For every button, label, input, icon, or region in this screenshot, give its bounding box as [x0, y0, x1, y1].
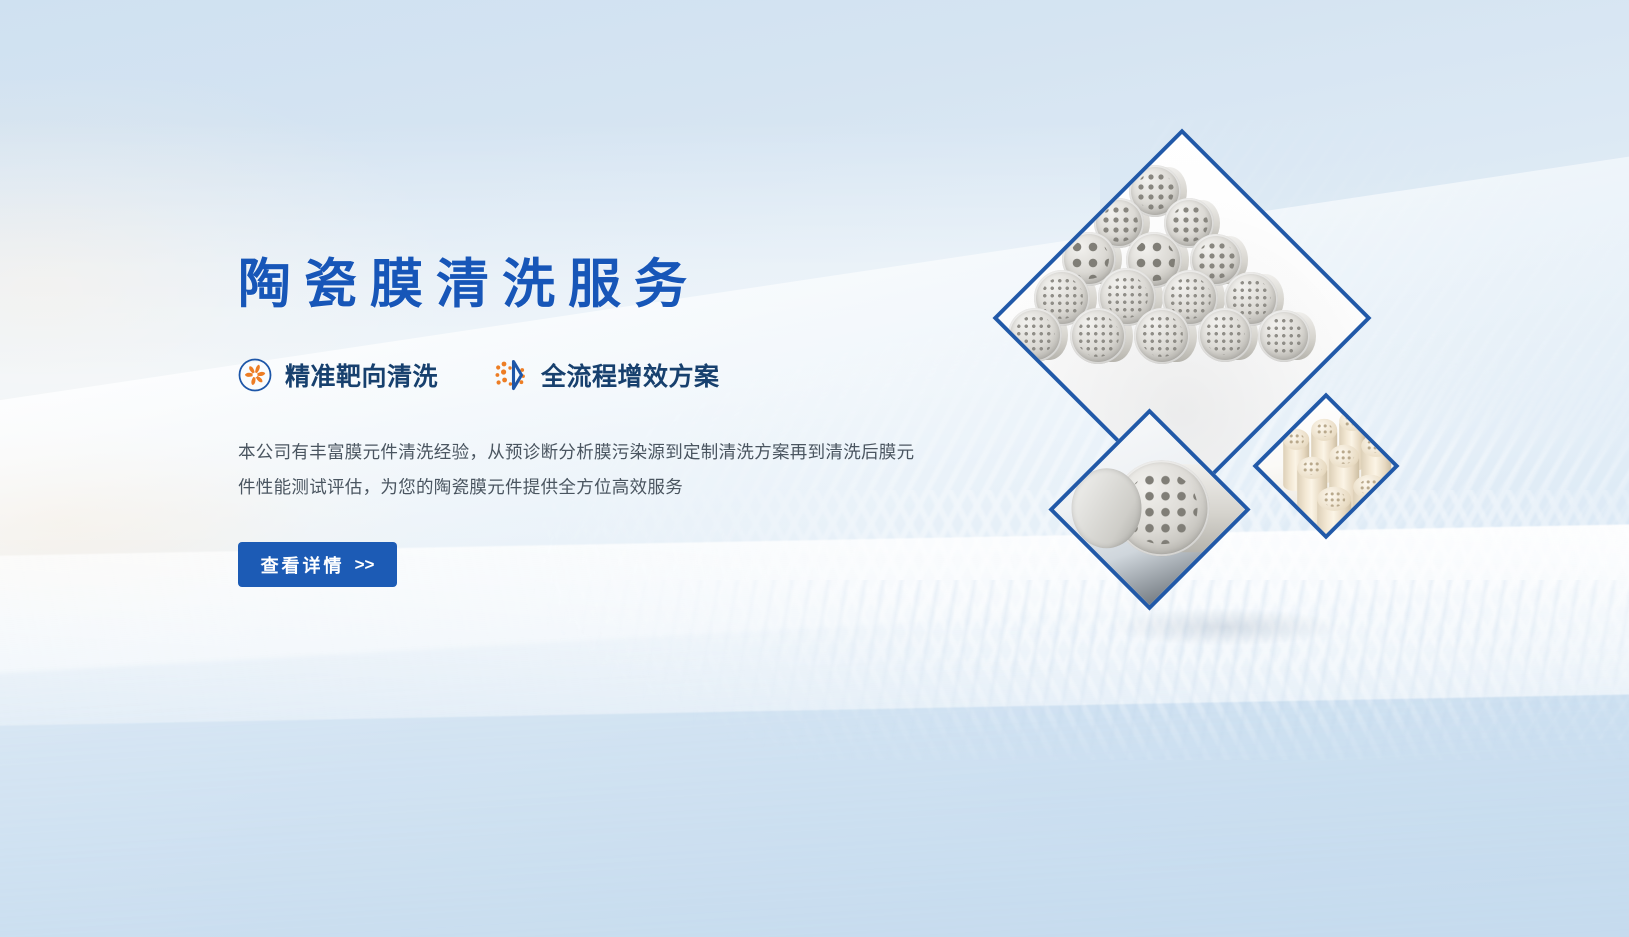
view-details-button[interactable]: 查看详情 >>: [238, 542, 397, 587]
page-title: 陶瓷膜清洗服务: [238, 255, 958, 314]
flow-arrow-icon: [494, 358, 528, 392]
feature-list: 精准靶向清洗: [238, 357, 958, 393]
hero-description: 本公司有丰富膜元件清洗经验，从预诊断分析膜污染源到定制清洗方案再到清洗后膜元件性…: [238, 435, 918, 505]
feature-item-full-process: 全流程增效方案: [494, 357, 720, 393]
hero-banner: 陶瓷膜清洗服务: [0, 0, 1629, 937]
pinwheel-icon: [238, 358, 272, 392]
view-details-label: 查看详情: [261, 552, 345, 578]
feature-label-precision-cleaning: 精准靶向清洗: [285, 357, 438, 393]
chevron-right-icon: >>: [355, 555, 375, 575]
feature-label-full-process: 全流程增效方案: [541, 357, 720, 393]
hero-copy: 陶瓷膜清洗服务: [238, 255, 958, 587]
feature-item-precision-cleaning: 精准靶向清洗: [238, 357, 438, 393]
